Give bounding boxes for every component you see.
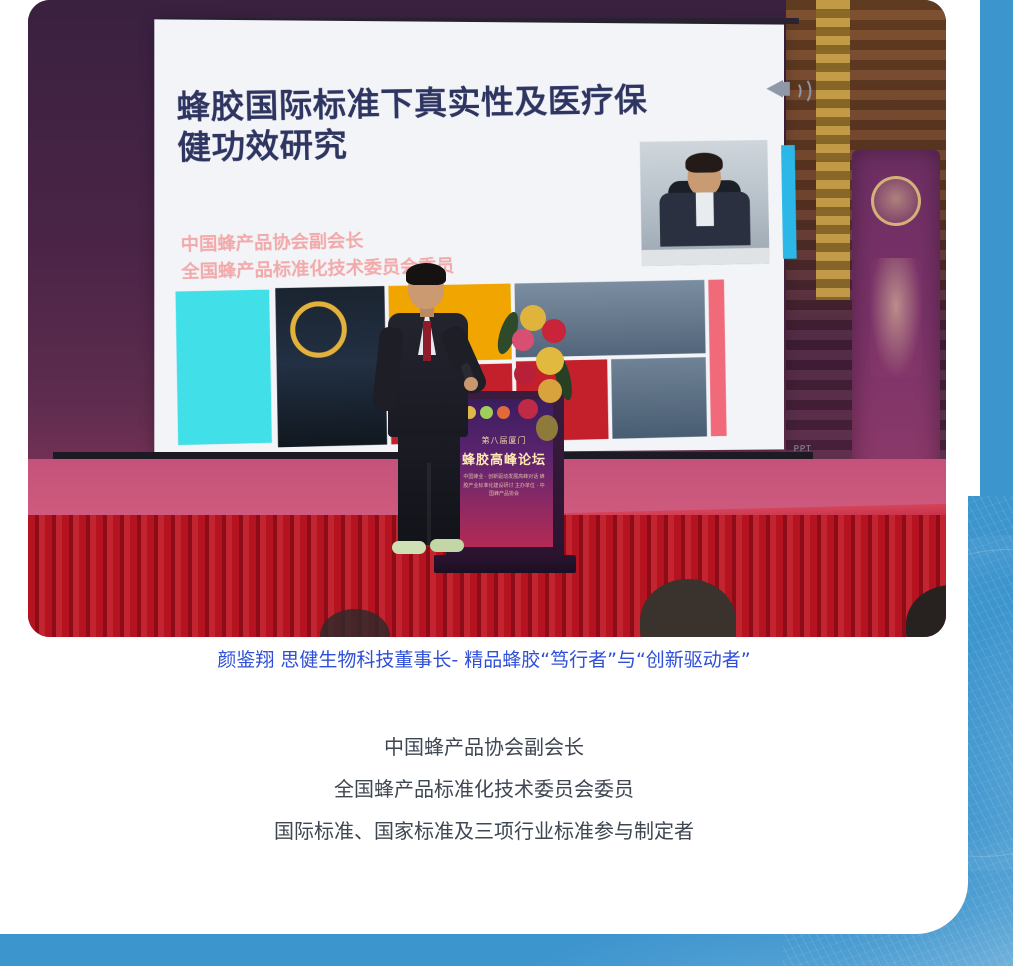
flower-2	[542, 319, 566, 343]
wall-banner	[852, 150, 940, 480]
photo-caption: 颜鉴翔 思健生物科技董事长- 精品蜂胶“笃行者”与“创新驱动者”	[0, 646, 968, 675]
speaker-icon	[766, 72, 809, 106]
collage-cell-1	[275, 286, 387, 447]
flower-7	[518, 399, 538, 419]
speaker-shoe-right	[430, 539, 464, 552]
portrait-hair	[685, 153, 723, 173]
body-line-3: 国际标准、国家标准及三项行业标准参与制定者	[0, 810, 968, 852]
conference-photo: 蜂胶国际标准下真实性及医疗保健功效研究 中国蜂产品协会副会长 全国蜂产品标准化技…	[28, 0, 946, 637]
speaker-icon-wave-2	[794, 77, 812, 105]
speaker-person	[372, 267, 492, 567]
portrait-shirt	[696, 192, 714, 226]
flower-arrangement	[502, 303, 588, 451]
slide-cyan-block	[175, 290, 271, 446]
body-line-1: 中国蜂产品协会副会长	[0, 726, 968, 768]
body-line-2: 全国蜂产品标准化技术委员会委员	[0, 768, 968, 810]
flower-4	[536, 347, 564, 375]
speaker-icon-box	[781, 82, 790, 96]
speaker-shoe-left	[392, 541, 426, 554]
slide-cyan-accent-bar	[781, 145, 797, 259]
speaker-hair	[406, 263, 446, 285]
portrait-desk	[642, 248, 770, 266]
slide-title: 蜂胶国际标准下真实性及医疗保健功效研究	[176, 80, 659, 169]
flower-8	[536, 415, 558, 441]
collage-cell-6	[611, 357, 707, 439]
article-page: 蜂胶国际标准下真实性及医疗保健功效研究 中国蜂产品协会副会长 全国蜂产品标准化技…	[0, 0, 1013, 966]
speaker-hand	[464, 377, 478, 391]
slide-portrait-photo	[640, 140, 770, 266]
collage-pink-bar	[708, 279, 726, 436]
speaker-tie	[423, 321, 431, 361]
body-text-block: 中国蜂产品协会副会长 全国蜂产品标准化技术委员会委员 国际标准、国家标准及三项行…	[0, 726, 968, 852]
content-card: 蜂胶国际标准下真实性及医疗保健功效研究 中国蜂产品协会副会长 全国蜂产品标准化技…	[0, 0, 968, 934]
speaker-leg-split	[427, 463, 431, 547]
flower-3	[512, 329, 534, 351]
wall-gold-strip	[816, 0, 850, 300]
flower-5	[514, 363, 536, 385]
flower-6	[538, 379, 562, 403]
